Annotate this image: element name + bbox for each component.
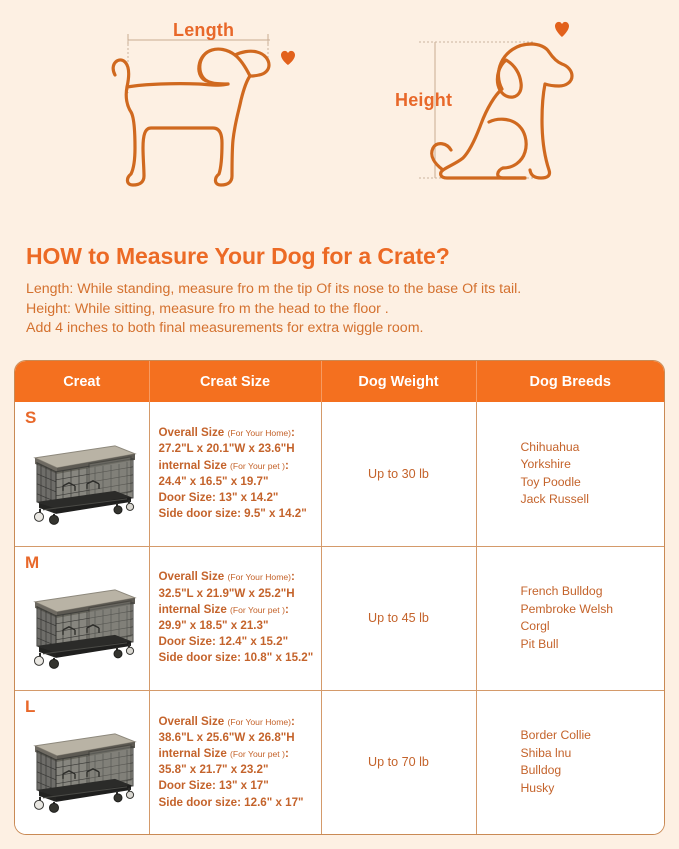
size-line: Overall Size (For Your Home): [159,569,317,585]
weight-cell-s: Up to 30 lb [321,402,476,546]
size-cell-s: Overall Size (For Your Home): 27.2"L x 2… [149,402,321,546]
weight-cell-l: Up to 70 lb [321,690,476,834]
instruction-line-2: Height: While sitting, measure fro m the… [26,300,653,320]
breed-item: French Bulldog [521,583,665,601]
instruction-line-1: Length: While standing, measure fro m th… [26,280,653,300]
crate-cell-m: M [15,546,149,690]
breed-item: Yorkshire [521,456,665,474]
table-header: Creat Creat Size Dog Weight Dog Breeds [15,361,664,402]
size-cell-m: Overall Size (For Your Home): 32.5"L x 2… [149,546,321,690]
height-label: Height [395,90,452,111]
size-line: 38.6"L x 25.6"W x 26.8"H [159,730,317,746]
table-row: M [15,546,664,690]
size-line: 29.9" x 18.5" x 21.3" [159,618,317,634]
breeds-cell-m: French Bulldog Pembroke Welsh Corgl Pit … [476,546,664,690]
weight-cell-m: Up to 45 lb [321,546,476,690]
table-row: L [15,690,664,834]
breed-item: Bulldog [521,762,665,780]
size-line: Overall Size (For Your Home): [159,714,317,730]
crate-cell-l: L [15,690,149,834]
weight-value: Up to 30 lb [368,467,429,481]
size-letter-s: S [25,408,36,428]
breeds-cell-s: Chihuahua Yorkshire Toy Poodle Jack Russ… [476,402,664,546]
breed-item: Pit Bull [521,636,665,654]
illustration-band: Length Height [0,0,679,225]
size-line: 32.5"L x 21.9"W x 25.2"H [159,586,317,602]
table-row: S [15,402,664,546]
breed-item: Corgl [521,618,665,636]
breed-item: Toy Poodle [521,474,665,492]
size-line: 27.2"L x 20.1"W x 23.6"H [159,441,317,457]
column-header-dog-weight: Dog Weight [321,361,476,402]
header-row: Creat Creat Size Dog Weight Dog Breeds [15,361,664,402]
column-header-crate: Creat [15,361,149,402]
size-line: internal Size (For Your pet ): [159,746,317,762]
instruction-line-3: Add 4 inches to both final measurements … [26,319,653,339]
size-line: Door Size: 13" x 14.2" [159,490,317,506]
size-line: Overall Size (For Your Home): [159,425,317,441]
weight-value: Up to 45 lb [368,611,429,625]
breed-item: Chihuahua [521,439,665,457]
page-title: HOW to Measure Your Dog for a Crate? [26,243,653,270]
breed-item: Husky [521,780,665,798]
size-letter-m: M [25,553,39,573]
dog-standing-side-icon [95,0,395,210]
breed-item: Shiba lnu [521,745,665,763]
length-illustration: Length [95,0,395,210]
height-illustration: Height [385,0,675,210]
dog-crate-photo [23,718,141,814]
size-line: Door Size: 13" x 17" [159,778,317,794]
dog-crate-size-guide-page: Length Height [0,0,679,849]
size-line: internal Size (For Your pet ): [159,458,317,474]
heart-icon [555,22,569,37]
breed-item: Jack Russell [521,491,665,509]
length-label: Length [173,20,234,41]
dog-crate-photo [23,430,141,526]
size-line: Side door size: 9.5" x 14.2" [159,506,317,522]
column-header-dog-breeds: Dog Breeds [476,361,664,402]
size-cell-l: Overall Size (For Your Home): 38.6"L x 2… [149,690,321,834]
size-letter-l: L [25,697,35,717]
table-body: S [15,402,664,834]
size-line: 35.8" x 21.7" x 23.2" [159,762,317,778]
size-line: Side door size: 10.8" x 15.2" [159,650,317,666]
crate-cell-s: S [15,402,149,546]
size-line: 24.4" x 16.5" x 19.7" [159,474,317,490]
spec-table: Creat Creat Size Dog Weight Dog Breeds S [15,361,664,834]
size-line: Side door size: 12.6" x 17" [159,795,317,811]
heart-icon [281,51,295,65]
breeds-cell-l: Border Collie Shiba lnu Bulldog Husky [476,690,664,834]
heading-block: HOW to Measure Your Dog for a Crate? Len… [0,225,679,339]
breed-item: Border Collie [521,727,665,745]
size-line: internal Size (For Your pet ): [159,602,317,618]
size-line: Door Size: 12.4" x 15.2" [159,634,317,650]
dog-crate-photo [23,574,141,670]
weight-value: Up to 70 lb [368,755,429,769]
column-header-crate-size: Creat Size [149,361,321,402]
spec-table-container: Creat Creat Size Dog Weight Dog Breeds S [14,360,665,835]
breed-item: Pembroke Welsh [521,601,665,619]
